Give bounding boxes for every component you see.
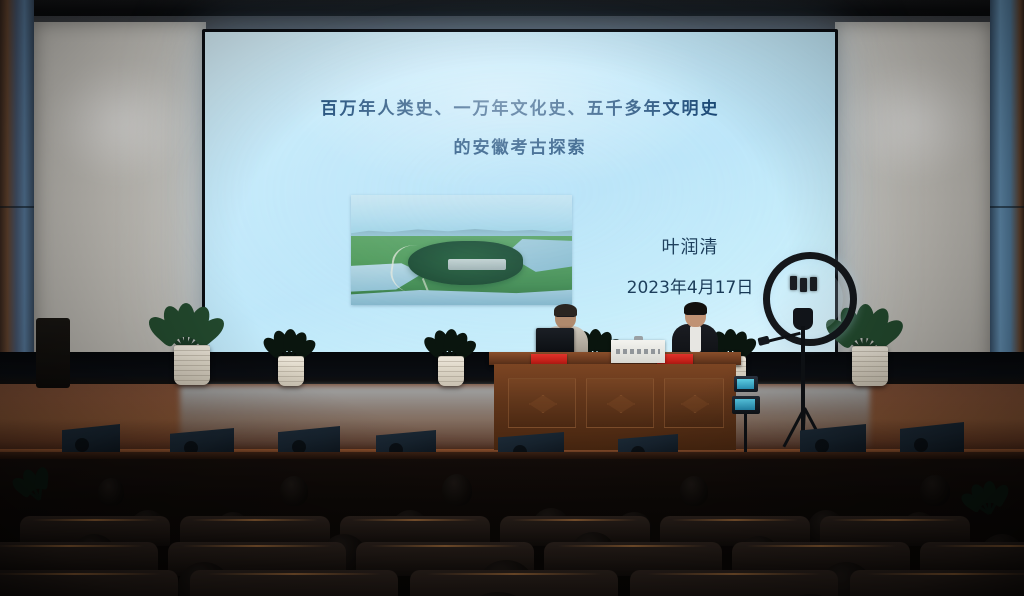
phone-mount-2: [800, 278, 807, 292]
glasses-icon-right: [687, 314, 704, 318]
seat-row-5: [0, 580, 1024, 596]
slide-title-line-2: 的安徽考古探索: [205, 133, 835, 158]
stage-side-chair: [36, 318, 70, 388]
ring-light-rig: [763, 252, 859, 452]
lecture-hall-scene: 百万年人类史、一万年文化史、五千多年文明史 的安徽考古探索 叶润清 2023年4…: [0, 0, 1024, 596]
camera-monitor-bottom: [735, 399, 755, 410]
panel-light-glow-left: [45, 62, 195, 182]
ring-light-icon: [763, 252, 857, 346]
laptop: [536, 328, 574, 354]
panel-light-glow-right: [838, 62, 988, 182]
audience-head: [462, 592, 534, 596]
camera-tripod-column: [744, 414, 747, 452]
ceiling: [0, 0, 1024, 16]
foreground-plant-silhouette-left: [10, 454, 70, 524]
camera-rig: [726, 376, 766, 452]
camera-monitor-top: [737, 379, 754, 389]
table-white-sign: [611, 340, 665, 363]
planter-left-side: [162, 290, 222, 385]
slide-title-line-1: 百万年人类史、一万年文化史、五千多年文明史: [205, 94, 835, 119]
stage-plant-2: [434, 308, 474, 386]
audience-seating: [0, 452, 1024, 596]
glasses-icon: [557, 316, 574, 320]
house-rail: [0, 452, 1024, 459]
phone-mount-1: [790, 276, 797, 290]
foreground-plant-silhouette: [958, 458, 1018, 538]
phone-mount-3: [810, 277, 817, 291]
stage-plant-1: [274, 306, 314, 386]
slide-aerial-photo: [351, 195, 572, 305]
